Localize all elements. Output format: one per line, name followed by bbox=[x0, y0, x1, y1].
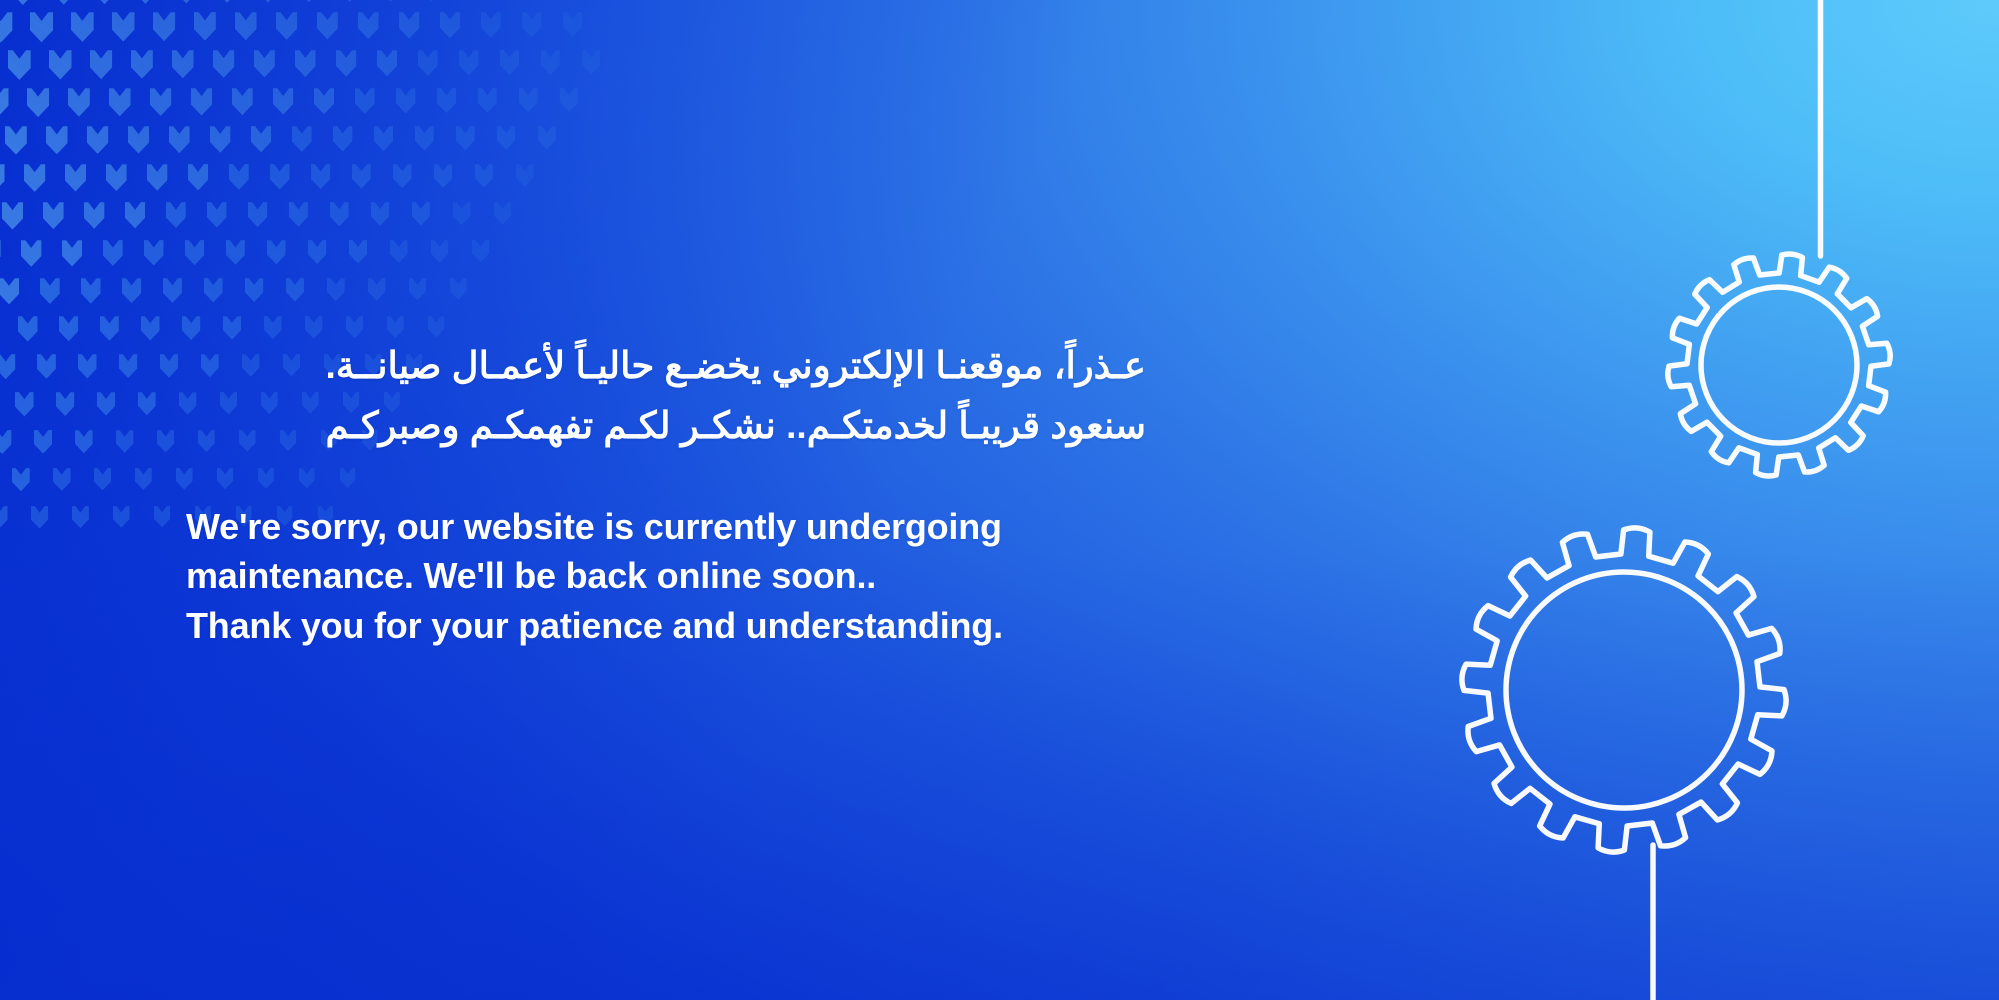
english-line-2: maintenance. We'll be back online soon.. bbox=[186, 551, 1146, 600]
maintenance-page: عـذراً، موقعنـا الإلكتروني يخضـع حاليـاً… bbox=[0, 0, 1999, 1000]
english-line-3: Thank you for your patience and understa… bbox=[186, 601, 1146, 650]
arabic-message: عـذراً، موقعنـا الإلكتروني يخضـع حاليـاً… bbox=[186, 336, 1146, 456]
english-line-1: We're sorry, our website is currently un… bbox=[186, 502, 1146, 551]
arabic-line-2: سنعود قريبـاً لخدمتكـم.. نشكـر لكـم تفهم… bbox=[186, 396, 1146, 456]
english-message: We're sorry, our website is currently un… bbox=[186, 502, 1146, 650]
arabic-line-1: عـذراً، موقعنـا الإلكتروني يخضـع حاليـاً… bbox=[186, 336, 1146, 396]
message-block: عـذراً، موقعنـا الإلكتروني يخضـع حاليـاً… bbox=[186, 336, 1146, 650]
